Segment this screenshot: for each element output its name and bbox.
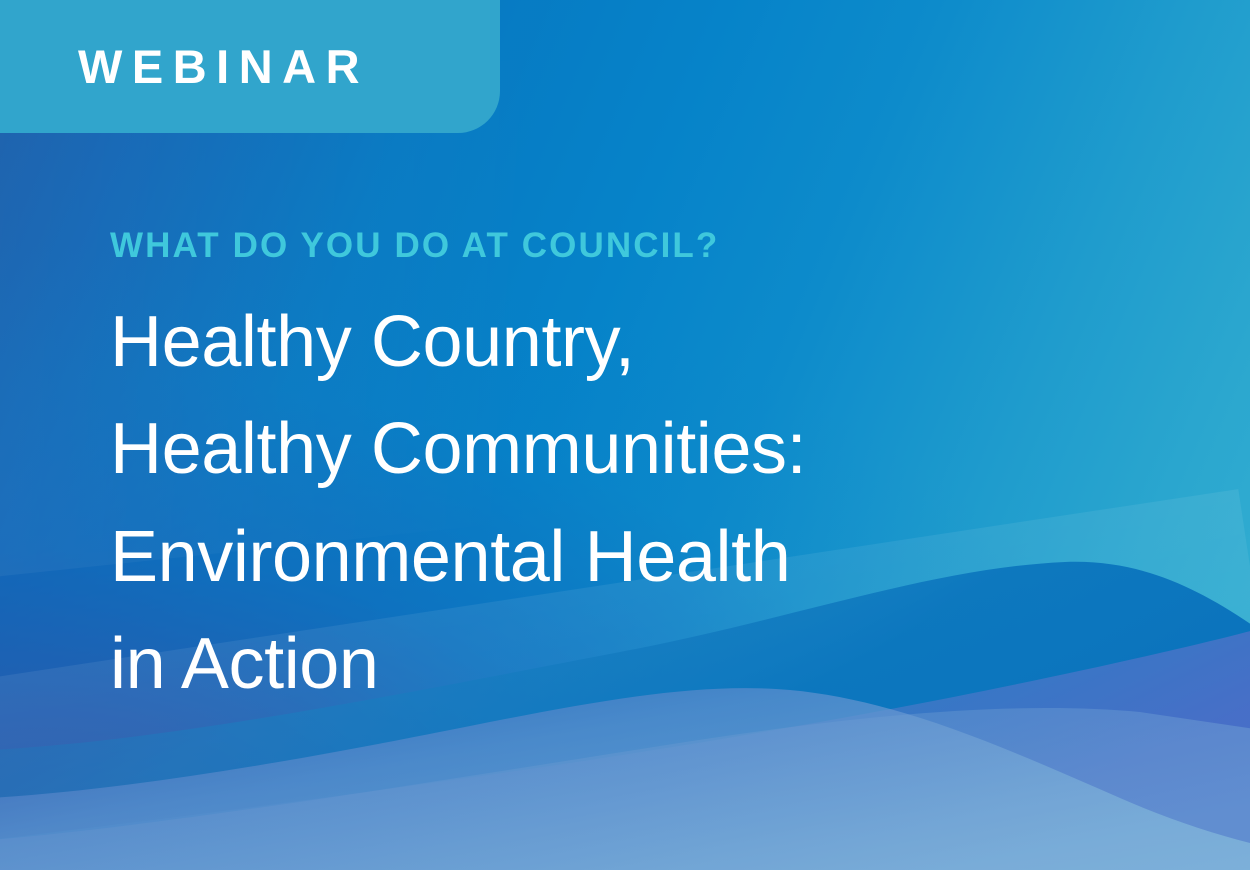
title-block: WHAT DO YOU DO AT COUNCIL? Healthy Count… <box>110 228 1050 718</box>
headline-line-1: Healthy Country, <box>110 289 1050 396</box>
webinar-badge-label: WEBINAR <box>78 43 369 90</box>
headline-line-4: in Action <box>110 611 1050 718</box>
headline-line-2: Healthy Communities: <box>110 396 1050 503</box>
page-title: Healthy Country, Healthy Communities: En… <box>110 289 1050 718</box>
headline-line-3: Environmental Health <box>110 504 1050 611</box>
webinar-banner: WEBINAR WHAT DO YOU DO AT COUNCIL? Healt… <box>0 0 1250 870</box>
eyebrow-text: WHAT DO YOU DO AT COUNCIL? <box>110 228 1050 263</box>
webinar-badge: WEBINAR <box>0 0 500 133</box>
